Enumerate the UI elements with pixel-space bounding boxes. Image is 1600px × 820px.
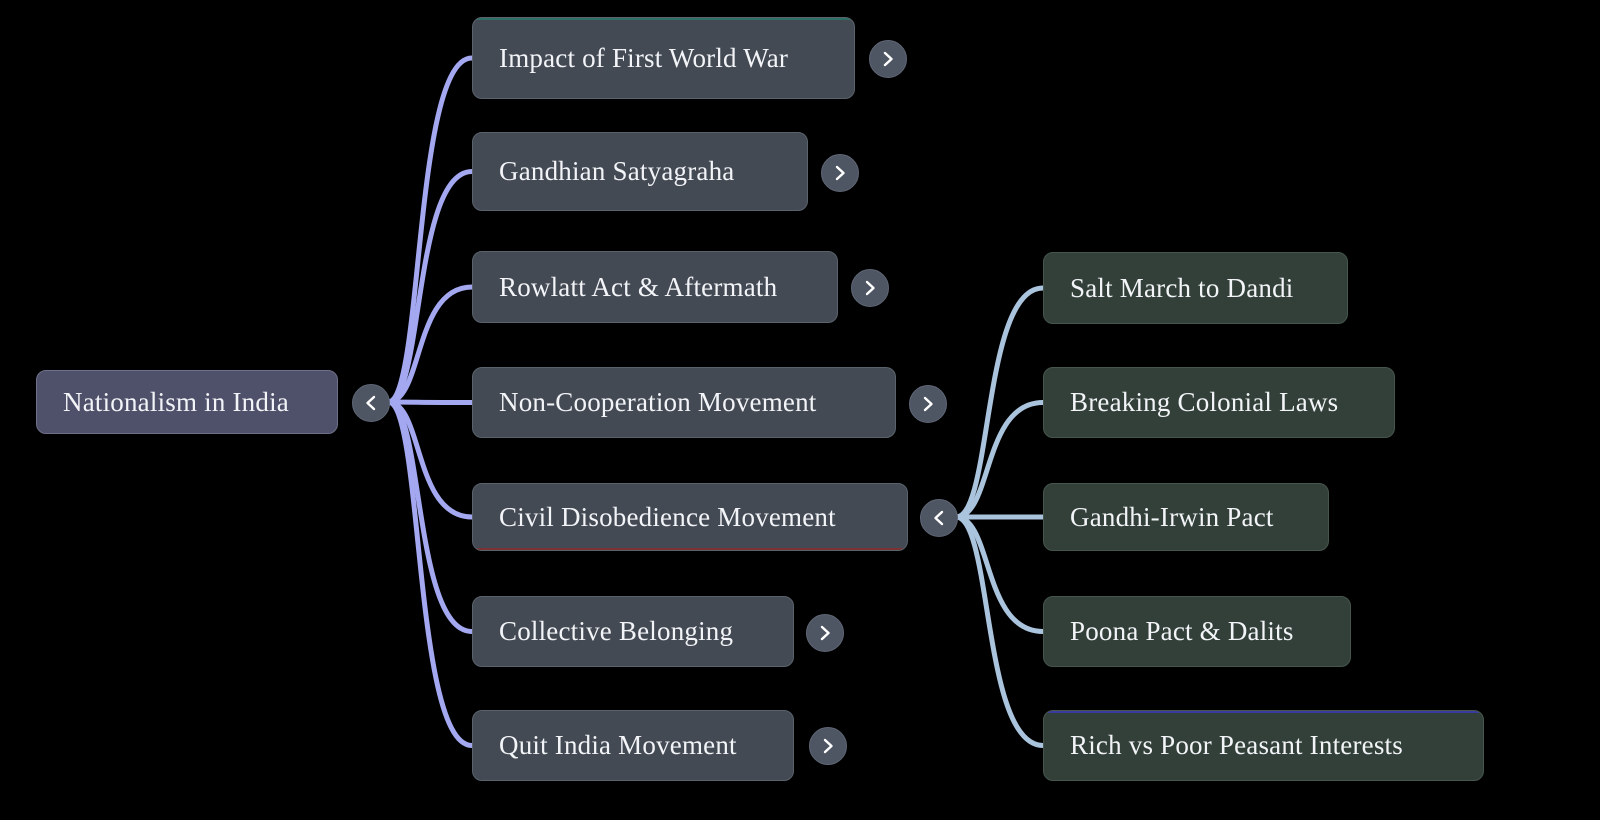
branch-node-l1-4-label: Civil Disobedience Movement <box>499 502 836 533</box>
mindmap-canvas: Nationalism in IndiaImpact of First Worl… <box>0 0 1600 820</box>
root-toggle[interactable] <box>352 384 390 422</box>
branch-node-l1-5-label: Collective Belonging <box>499 616 733 647</box>
branch-node-l1-3[interactable]: Non-Cooperation Movement <box>472 367 896 438</box>
chevron-left-icon <box>930 509 948 527</box>
chevron-left-icon <box>362 394 380 412</box>
edge-root-to-l1-5 <box>388 402 472 632</box>
edge-root-to-l1-0 <box>388 58 472 402</box>
edge-root-to-l1-6 <box>388 402 472 746</box>
chevron-right-icon <box>879 50 897 68</box>
edge-root-to-l1-2 <box>388 287 472 402</box>
branch-node-l1-0-accent-top <box>473 18 854 20</box>
leaf-node-l2-2-label: Gandhi-Irwin Pact <box>1070 502 1274 533</box>
edge-branch-to-l2-1 <box>956 403 1043 518</box>
leaf-node-l2-3[interactable]: Poona Pact & Dalits <box>1043 596 1351 667</box>
branch-node-l1-6-label: Quit India Movement <box>499 730 737 761</box>
branch-node-l1-0[interactable]: Impact of First World War <box>472 17 855 99</box>
root-node-label: Nationalism in India <box>63 387 289 418</box>
leaf-node-l2-1[interactable]: Breaking Colonial Laws <box>1043 367 1395 438</box>
branch-node-l1-6[interactable]: Quit India Movement <box>472 710 794 781</box>
leaf-node-l2-1-label: Breaking Colonial Laws <box>1070 387 1338 418</box>
leaf-node-l2-4-accent-top <box>1044 711 1483 713</box>
branch-node-l1-3-label: Non-Cooperation Movement <box>499 387 817 418</box>
branch-toggle-l1-5[interactable] <box>806 614 844 652</box>
edge-branch-to-l2-4 <box>956 517 1043 746</box>
edge-branch-to-l2-3 <box>956 517 1043 632</box>
chevron-right-icon <box>919 395 937 413</box>
edge-root-to-l1-3 <box>388 402 472 403</box>
branch-node-l1-0-label: Impact of First World War <box>499 43 788 74</box>
branch-node-l1-1[interactable]: Gandhian Satyagraha <box>472 132 808 211</box>
branch-node-l1-1-label: Gandhian Satyagraha <box>499 156 734 187</box>
branch-toggle-l1-6[interactable] <box>809 727 847 765</box>
leaf-node-l2-2[interactable]: Gandhi-Irwin Pact <box>1043 483 1329 551</box>
chevron-right-icon <box>819 737 837 755</box>
branch-toggle-l1-1[interactable] <box>821 154 859 192</box>
chevron-right-icon <box>831 164 849 182</box>
edge-root-to-l1-1 <box>388 172 472 403</box>
edge-branch-to-l2-0 <box>956 288 1043 517</box>
leaf-node-l2-4-label: Rich vs Poor Peasant Interests <box>1070 730 1403 761</box>
leaf-node-l2-0[interactable]: Salt March to Dandi <box>1043 252 1348 324</box>
chevron-right-icon <box>861 279 879 297</box>
chevron-right-icon <box>816 624 834 642</box>
edge-root-to-l1-4 <box>388 402 472 517</box>
branch-toggle-l1-0[interactable] <box>869 40 907 78</box>
branch-toggle-l1-3[interactable] <box>909 385 947 423</box>
leaf-node-l2-3-label: Poona Pact & Dalits <box>1070 616 1294 647</box>
leaf-node-l2-0-label: Salt March to Dandi <box>1070 273 1294 304</box>
branch-node-l1-5[interactable]: Collective Belonging <box>472 596 794 667</box>
branch-node-l1-2[interactable]: Rowlatt Act & Aftermath <box>472 251 838 323</box>
root-node[interactable]: Nationalism in India <box>36 370 338 434</box>
branch-node-l1-4[interactable]: Civil Disobedience Movement <box>472 483 908 551</box>
branch-toggle-l1-4[interactable] <box>920 499 958 537</box>
branch-node-l1-2-label: Rowlatt Act & Aftermath <box>499 272 777 303</box>
leaf-node-l2-4[interactable]: Rich vs Poor Peasant Interests <box>1043 710 1484 781</box>
branch-toggle-l1-2[interactable] <box>851 269 889 307</box>
branch-node-l1-4-accent-bottom <box>473 548 907 550</box>
